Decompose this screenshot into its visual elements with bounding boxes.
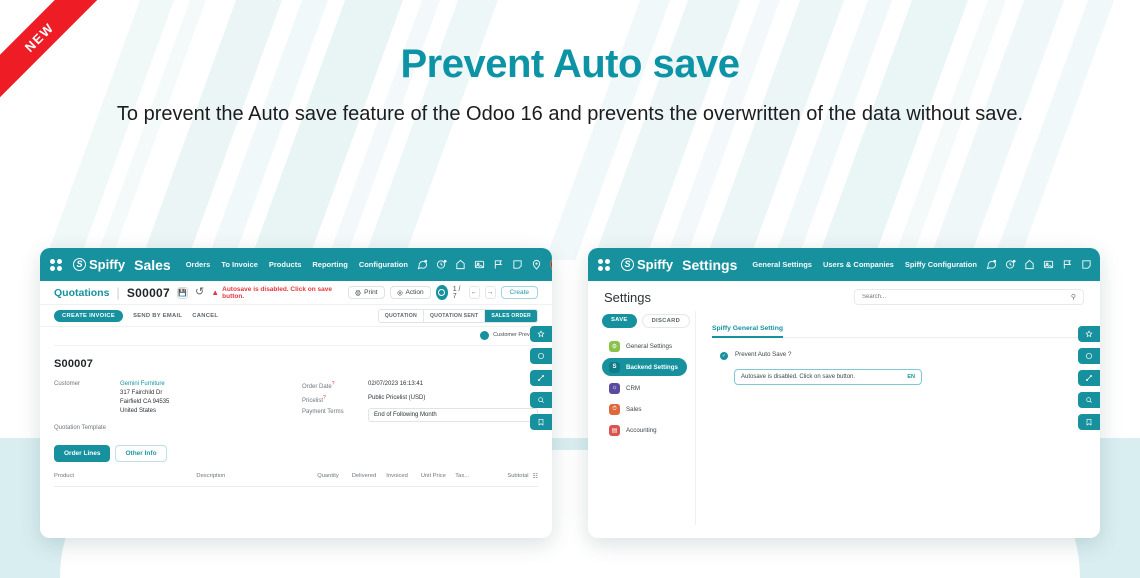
customer-address-line-3: United States <box>120 407 169 416</box>
order-date-value[interactable]: 02/07/2023 16:13:41 <box>368 380 423 390</box>
breadcrumb-bar: Quotations | S00007 💾 ↺ ▲ Autosave is di… <box>40 281 552 305</box>
comment-icon[interactable] <box>530 348 552 364</box>
comment-icon[interactable] <box>1078 348 1100 364</box>
sidebar-item-label: Backend Settings <box>626 364 678 371</box>
page-subtitle: To prevent the Auto save feature of the … <box>0 101 1140 128</box>
col-delivered: Delivered <box>352 473 387 480</box>
warning-triangle-icon: ▲ <box>211 288 219 297</box>
autosave-warning-text: Autosave is disabled. Click on save butt… <box>222 286 341 300</box>
screenshot-icon[interactable] <box>1043 259 1054 270</box>
required-mark: ? <box>323 395 326 401</box>
left-shot-rail <box>530 326 552 430</box>
col-invoiced: Invoiced <box>386 473 421 480</box>
expand-icon[interactable] <box>530 370 552 386</box>
stage-quotation-sent[interactable]: QUOTATION SENT <box>424 310 485 322</box>
menu-spiffy-configuration[interactable]: Spiffy Configuration <box>905 260 977 269</box>
expand-icon[interactable] <box>1078 370 1100 386</box>
page-title: Prevent Auto save <box>0 42 1140 87</box>
sales-menu: Orders To Invoice Products Reporting Con… <box>186 260 408 269</box>
payment-terms-label: Payment Terms <box>302 408 368 422</box>
brand-logo[interactable]: S Spiffy <box>621 257 673 272</box>
new-ribbon: NEW <box>0 0 120 120</box>
apps-grid-icon[interactable] <box>50 259 62 271</box>
autosave-message-value: Autosave is disabled. Click on save butt… <box>741 374 907 380</box>
order-date-label: Order Date? <box>302 380 368 390</box>
sales-icon: ⏱ <box>609 404 620 415</box>
apps-grid-icon[interactable] <box>598 259 610 271</box>
record-controls: Print Action 1 / 7 ← → Create <box>348 285 538 300</box>
form-sheet: Customer Preview S00007 Customer Gemini … <box>40 327 552 538</box>
gear-icon: ⚙ <box>609 341 620 352</box>
sales-screenshot-card: S Spiffy Sales Orders To Invoice Product… <box>40 248 552 538</box>
send-by-email-button[interactable]: SEND BY EMAIL <box>133 313 182 319</box>
gear-icon <box>397 290 403 296</box>
menu-general-settings[interactable]: General Settings <box>752 260 812 269</box>
status-bar: CREATE INVOICE SEND BY EMAIL CANCEL QUOT… <box>40 305 552 327</box>
breadcrumb-separator: | <box>116 285 119 300</box>
sidebar-item-backend-settings[interactable]: S Backend Settings <box>602 358 687 376</box>
save-icon[interactable]: 💾 <box>177 287 188 299</box>
sidebar-item-label: CRM <box>626 385 640 392</box>
settings-actions: SAVE DISCARD <box>602 314 687 328</box>
printer-icon <box>355 290 361 296</box>
autosave-message-input[interactable]: Autosave is disabled. Click on save butt… <box>734 369 922 385</box>
stage-quotation[interactable]: QUOTATION <box>379 310 424 322</box>
breadcrumb-parent[interactable]: Quotations <box>54 287 109 299</box>
payment-terms-row: Payment Terms End of Following Month <box>302 408 538 422</box>
action-label: Action <box>406 289 424 296</box>
order-lines-empty-body <box>54 487 538 538</box>
pin-icon[interactable] <box>531 259 542 270</box>
debug-icon[interactable] <box>455 259 466 270</box>
sidebar-item-accounting[interactable]: ▤ Accounting <box>602 421 687 439</box>
flag-icon[interactable] <box>1062 259 1073 270</box>
new-ribbon-label: NEW <box>0 0 110 108</box>
flag-icon[interactable] <box>493 259 504 270</box>
bookmark-icon[interactable] <box>1078 414 1100 430</box>
pricelist-label: Pricelist? <box>302 394 368 404</box>
hero-section: Prevent Auto save To prevent the Auto sa… <box>0 0 1140 128</box>
form-column-right: Order Date? 02/07/2023 16:13:41 Pricelis… <box>302 380 538 431</box>
create-button[interactable]: Create <box>501 286 539 299</box>
settings-page-title: Settings <box>604 290 651 305</box>
col-tax: Tax... <box>455 473 485 480</box>
customer-name[interactable]: Gemini Furniture <box>120 380 169 389</box>
settings-main: Spiffy General Setting ✓ Prevent Auto Sa… <box>696 311 1100 525</box>
spiffy-mark-icon: S <box>73 258 86 271</box>
stage-sales-order[interactable]: SALES ORDER <box>485 310 537 322</box>
avatar[interactable] <box>550 256 552 273</box>
messages-icon[interactable] <box>986 259 997 270</box>
print-button[interactable]: Print <box>348 286 384 299</box>
debug-icon[interactable] <box>1024 259 1035 270</box>
col-unit-price: Unit Price <box>421 473 456 480</box>
prevent-auto-save-row: ✓ Prevent Auto Save ? <box>712 351 1082 360</box>
menu-reporting[interactable]: Reporting <box>312 260 347 269</box>
customer-address-line-1: 317 Fairchild Dr <box>120 389 169 398</box>
payment-terms-input[interactable]: End of Following Month <box>368 408 538 422</box>
settings-search[interactable]: ⚲ <box>854 289 1084 305</box>
screenshot-icon[interactable] <box>474 259 485 270</box>
settings-screenshot-card: S Spiffy Settings General Settings Users… <box>588 248 1100 538</box>
menu-users-companies[interactable]: Users & Companies <box>823 260 894 269</box>
search-icon[interactable] <box>530 392 552 408</box>
pager-next-button[interactable]: → <box>485 286 496 299</box>
messages-icon[interactable] <box>417 259 428 270</box>
spiffy-mark-icon: S <box>621 258 634 271</box>
col-quantity: Quantity <box>317 473 352 480</box>
sidebar-item-crm[interactable]: ☼ CRM <box>602 379 687 397</box>
record-title: S00007 <box>54 346 538 380</box>
col-subtotal: Subtotal <box>485 473 528 480</box>
discard-icon[interactable]: ↺ <box>195 287 204 298</box>
discard-button[interactable]: DISCARD <box>642 314 691 328</box>
language-badge[interactable]: EN <box>907 374 915 380</box>
order-date-row: Order Date? 02/07/2023 16:13:41 <box>302 380 538 390</box>
navbar-systray <box>417 256 552 273</box>
app-name: Sales <box>134 257 171 273</box>
app-name: Settings <box>682 257 737 273</box>
crm-icon: ☼ <box>609 383 620 394</box>
search-icon[interactable] <box>1078 392 1100 408</box>
sidebar-item-label: Sales <box>626 406 641 413</box>
search-input[interactable] <box>862 294 1066 300</box>
pager-prev-button[interactable]: ← <box>469 286 480 299</box>
brand-logo[interactable]: S Spiffy <box>73 257 125 272</box>
tab-order-lines[interactable]: Order Lines <box>54 445 110 462</box>
print-label: Print <box>364 289 377 296</box>
record-indicator-icon[interactable] <box>436 285 448 300</box>
menu-products[interactable]: Products <box>269 260 302 269</box>
form-column-left: Customer Gemini Furniture 317 Fairchild … <box>54 380 276 431</box>
settings-body: SAVE DISCARD ⚙ General Settings S Backen… <box>588 311 1100 525</box>
bookmark-icon[interactable] <box>530 414 552 430</box>
settings-header: Settings ⚲ <box>588 281 1100 311</box>
prevent-auto-save-checkbox[interactable]: ✓ <box>720 352 728 360</box>
customer-value-block: Gemini Furniture 317 Fairchild Dr Fairfi… <box>120 380 169 416</box>
col-description: Description <box>196 473 317 480</box>
cancel-button[interactable]: CANCEL <box>192 313 218 319</box>
menu-to-invoice[interactable]: To Invoice <box>221 260 258 269</box>
order-lines-table-header: Product Description Quantity Delivered I… <box>54 462 538 487</box>
menu-orders[interactable]: Orders <box>186 260 211 269</box>
settings-menu: General Settings Users & Companies Spiff… <box>752 260 977 269</box>
customer-label: Customer <box>54 380 120 416</box>
customer-field-row: Customer Gemini Furniture 317 Fairchild … <box>54 380 276 416</box>
action-button[interactable]: Action <box>390 286 431 299</box>
pager-count: 1 / 7 <box>453 286 464 300</box>
note-icon[interactable] <box>1081 259 1092 270</box>
customer-address-line-2: Fairfield CA 94535 <box>120 398 169 407</box>
brand-name: Spiffy <box>89 257 125 272</box>
tab-other-info[interactable]: Other Info <box>115 445 166 462</box>
search-icon[interactable]: ⚲ <box>1071 293 1076 301</box>
right-shot-rail <box>1078 326 1100 430</box>
autosave-warning: ▲ Autosave is disabled. Click on save bu… <box>211 286 341 300</box>
save-button[interactable]: SAVE <box>602 314 637 328</box>
activity-icon[interactable] <box>436 259 447 270</box>
sidebar-item-sales[interactable]: ⏱ Sales <box>602 400 687 418</box>
brand-name: Spiffy <box>637 257 673 272</box>
navbar-systray <box>986 256 1100 273</box>
sheet-tabs: Order Lines Other Info <box>54 431 538 462</box>
globe-icon <box>480 331 489 340</box>
star-icon[interactable] <box>530 326 552 342</box>
create-invoice-button[interactable]: CREATE INVOICE <box>54 310 123 322</box>
star-icon[interactable] <box>1078 326 1100 342</box>
sidebar-item-label: Accounting <box>626 427 657 434</box>
prevent-auto-save-label: Prevent Auto Save ? <box>735 351 791 358</box>
settings-navbar: S Spiffy Settings General Settings Users… <box>588 248 1100 281</box>
quotation-template-label: Quotation Template <box>54 425 276 431</box>
sidebar-item-general-settings[interactable]: ⚙ General Settings <box>602 337 687 355</box>
form-grid: Customer Gemini Furniture 317 Fairchild … <box>54 380 538 431</box>
col-product: Product <box>54 473 196 480</box>
sheet-top: Customer Preview <box>54 327 538 346</box>
spiffy-icon: S <box>609 362 620 373</box>
accounting-icon: ▤ <box>609 425 620 436</box>
activity-icon[interactable] <box>1005 259 1016 270</box>
pricelist-value[interactable]: Public Pricelist (USD) <box>368 394 425 404</box>
settings-sidebar: SAVE DISCARD ⚙ General Settings S Backen… <box>588 311 696 525</box>
sales-navbar: S Spiffy Sales Orders To Invoice Product… <box>40 248 552 281</box>
section-title: Spiffy General Setting <box>712 325 783 338</box>
pricelist-row: Pricelist? Public Pricelist (USD) <box>302 394 538 404</box>
breadcrumb-current: S00007 <box>127 286 170 300</box>
sidebar-item-label: General Settings <box>626 343 672 350</box>
note-icon[interactable] <box>512 259 523 270</box>
stage-pills: QUOTATION QUOTATION SENT SALES ORDER <box>378 309 538 323</box>
column-options-icon[interactable]: ☷ <box>533 473 538 480</box>
menu-configuration[interactable]: Configuration <box>359 260 408 269</box>
required-mark: ? <box>332 381 335 387</box>
